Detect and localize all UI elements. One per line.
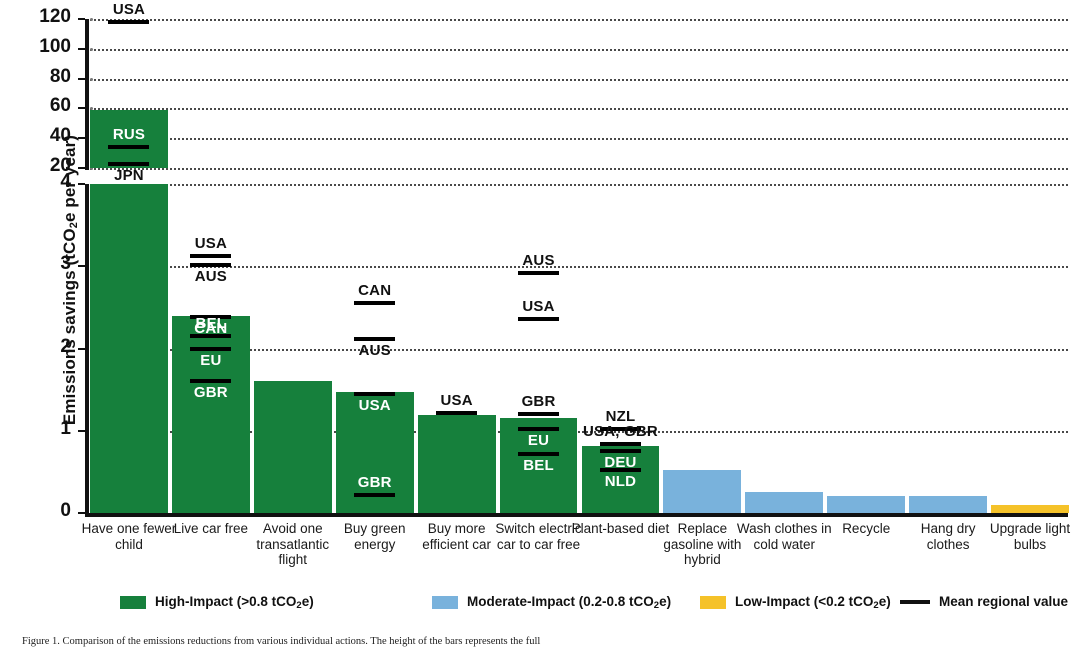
mean-marker-line <box>108 162 149 166</box>
mean-marker-line <box>600 468 641 472</box>
mean-marker-line <box>354 301 395 305</box>
x-axis-label: Upgrade light bulbs <box>980 521 1080 552</box>
y-tick-lower <box>78 430 85 432</box>
mean-marker-label: USA <box>158 235 264 252</box>
gridline-upper <box>85 168 1068 170</box>
y-ticklabel-upper: 60 <box>0 95 71 117</box>
mean-marker-label: GBR <box>158 384 264 401</box>
mean-marker-line <box>354 493 395 497</box>
bar-segment-lower[interactable] <box>90 184 168 513</box>
mean-marker-line <box>354 392 395 396</box>
mean-marker-line <box>518 271 559 275</box>
mean-marker-line <box>108 20 149 24</box>
mean-marker-line <box>518 317 559 321</box>
y-tick-lower <box>78 265 85 267</box>
mean-marker-label: USA <box>486 298 592 315</box>
mean-marker-line <box>518 452 559 456</box>
gridline-upper <box>85 108 1068 110</box>
mean-marker-line <box>190 379 231 383</box>
mean-marker-label: CAN <box>322 282 428 299</box>
gridline-upper <box>85 49 1068 51</box>
y-tick-lower <box>78 512 85 514</box>
y-ticklabel-lower: 3 <box>0 253 71 275</box>
mean-marker-line <box>518 412 559 416</box>
bar[interactable] <box>827 496 905 513</box>
mean-marker-label: USA <box>76 1 182 18</box>
y-ticklabel-upper: 40 <box>0 125 71 147</box>
gridline-upper <box>85 19 1068 21</box>
y-ticklabel-upper: 80 <box>0 66 71 88</box>
y-innertick-upper <box>90 78 93 81</box>
y-tick-upper <box>78 48 85 50</box>
mean-marker-label: GBR <box>322 474 428 491</box>
bar[interactable] <box>745 492 823 513</box>
y-tick-upper <box>78 107 85 109</box>
mean-marker-label: AUS <box>158 268 264 285</box>
bar[interactable] <box>991 505 1069 513</box>
mean-marker-line <box>600 442 641 446</box>
bar[interactable] <box>663 470 741 513</box>
gridline-upper <box>85 138 1068 140</box>
y-innertick-upper <box>90 48 93 51</box>
mean-marker-label: USA, GBR <box>568 423 674 440</box>
y-innertick-upper <box>90 18 93 21</box>
y-ticklabel-upper: 120 <box>0 6 71 28</box>
mean-marker-line <box>600 449 641 453</box>
mean-marker-line <box>518 427 559 431</box>
x-axis-spine <box>85 513 1068 517</box>
legend-color-swatch <box>120 596 146 609</box>
mean-marker-line <box>354 337 395 341</box>
bar[interactable] <box>909 496 987 513</box>
mean-marker-line <box>190 263 231 267</box>
legend: High-Impact (>0.8 tCO2e)Moderate-Impact … <box>0 592 1080 616</box>
y-tick-lower <box>78 348 85 350</box>
legend-label: Mean regional value <box>939 594 1068 609</box>
mean-marker-line <box>108 145 149 149</box>
gridline-upper <box>85 79 1068 81</box>
y-ticklabel-lower: 1 <box>0 418 71 440</box>
mean-marker-label: AUS <box>486 252 592 269</box>
bar[interactable] <box>418 415 496 513</box>
mean-marker-line <box>190 254 231 258</box>
legend-color-swatch <box>700 596 726 609</box>
mean-marker-label: JPN <box>76 167 182 184</box>
y-tick-upper <box>78 78 85 80</box>
mean-marker-label: RUS <box>76 126 182 143</box>
legend-item: Mean regional value <box>900 594 1068 609</box>
mean-marker-label: AUS <box>322 342 428 359</box>
mean-marker-line <box>190 347 231 351</box>
legend-item: Low-Impact (<0.2 tCO2e) <box>700 594 891 611</box>
mean-marker-line <box>436 411 477 415</box>
legend-label: Moderate-Impact (0.2-0.8 tCO2e) <box>467 594 671 611</box>
bar[interactable] <box>254 381 332 513</box>
bar[interactable] <box>172 316 250 513</box>
figure-caption: Figure 1. Comparison of the emissions re… <box>22 636 1062 648</box>
y-ticklabel-lower: 0 <box>0 500 71 522</box>
gridline-lower <box>85 184 1068 186</box>
mean-marker-label: EU <box>158 352 264 369</box>
figure-root: Emissions savings (tCO2e per year) 20406… <box>0 0 1080 648</box>
y-ticklabel-upper: 100 <box>0 36 71 58</box>
legend-item: Moderate-Impact (0.2-0.8 tCO2e) <box>432 594 671 611</box>
legend-color-swatch <box>432 596 458 609</box>
y-ticklabel-lower: 4 <box>0 171 71 193</box>
y-axis-lower-spine <box>85 184 89 516</box>
mean-marker-label: BEL <box>158 315 264 332</box>
legend-label: Low-Impact (<0.2 tCO2e) <box>735 594 891 611</box>
y-ticklabel-lower: 2 <box>0 336 71 358</box>
y-axis-upper-spine <box>85 19 89 170</box>
legend-mean-line-swatch <box>900 600 930 604</box>
legend-label: High-Impact (>0.8 tCO2e) <box>155 594 314 611</box>
legend-item: High-Impact (>0.8 tCO2e) <box>120 594 314 611</box>
mean-marker-label: NLD <box>568 473 674 490</box>
mean-marker-line <box>190 334 231 338</box>
